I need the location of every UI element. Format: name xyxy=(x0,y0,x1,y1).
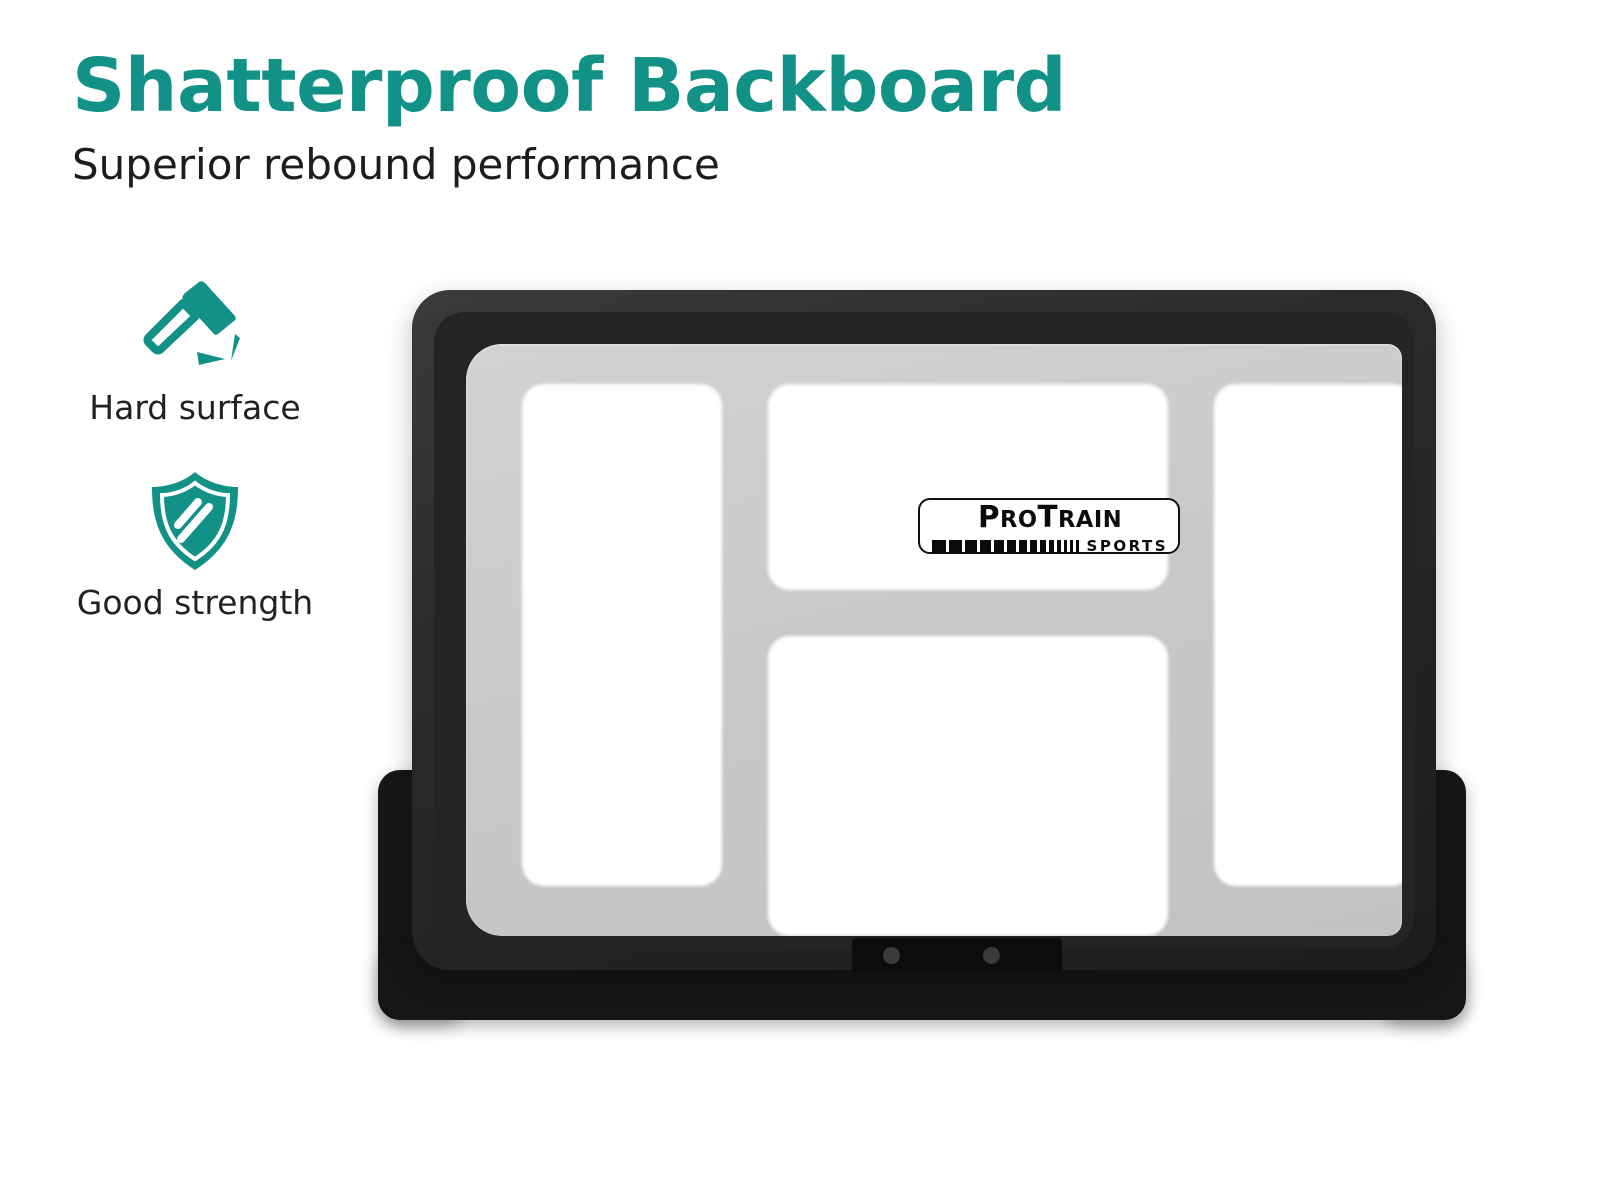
brand-letter-p: P xyxy=(978,500,1000,535)
shield-icon xyxy=(60,467,330,575)
brand-letter-t: T xyxy=(1037,500,1058,535)
brand-sub-label: SPORTS xyxy=(1087,539,1168,553)
backboard-panel-center-top xyxy=(768,384,1168,590)
feature-label: Hard surface xyxy=(60,388,330,427)
brand-wordmark: PROTRAIN xyxy=(934,503,1165,535)
header: Shatterproof Backboard Superior rebound … xyxy=(72,48,1272,188)
brand-logo-protrain-sports: PROTRAIN SPORTS xyxy=(918,498,1180,554)
feature-label: Good strength xyxy=(60,583,330,622)
feature-hard-surface: Hard surface xyxy=(60,272,330,427)
mounting-bolt xyxy=(883,947,900,964)
brand-letters-rain: RAIN xyxy=(1058,507,1122,533)
backboard-surface: PROTRAIN SPORTS xyxy=(466,344,1402,936)
feature-list: Hard surface Good strength xyxy=(60,272,330,662)
brand-sub-row: SPORTS xyxy=(932,536,1168,553)
brand-dash-bars xyxy=(932,540,1081,553)
mounting-bolt xyxy=(983,947,1000,964)
product-image-backboard: PROTRAIN SPORTS xyxy=(370,270,1510,1060)
backboard-panel-left xyxy=(522,384,722,886)
page-title: Shatterproof Backboard xyxy=(72,48,1272,126)
page-subtitle: Superior rebound performance xyxy=(72,142,1272,188)
backboard-panel-right xyxy=(1214,384,1402,886)
backboard-frame: PROTRAIN SPORTS xyxy=(412,290,1436,970)
feature-good-strength: Good strength xyxy=(60,467,330,622)
hammer-icon xyxy=(60,272,330,380)
backboard-panel-center-bottom xyxy=(768,636,1168,936)
backboard-inset: PROTRAIN SPORTS xyxy=(434,312,1414,948)
brand-letters-ro: RO xyxy=(1000,507,1038,533)
